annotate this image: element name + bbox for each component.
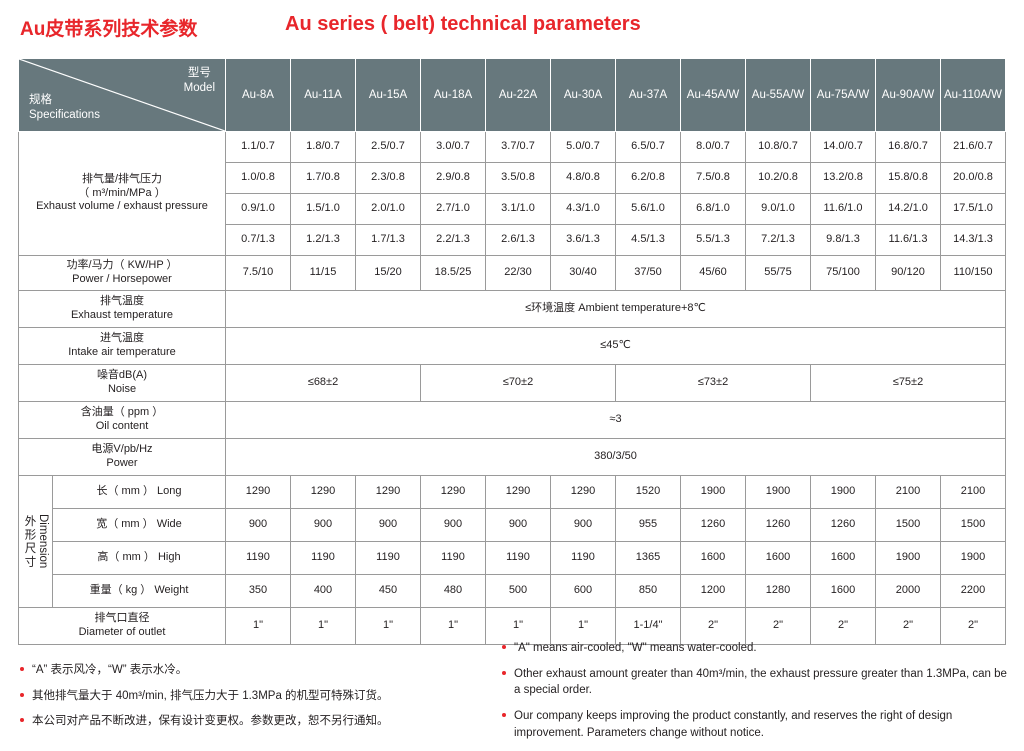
cell-dim-high-6: 1365 bbox=[616, 542, 681, 575]
row-label-oil-content: 含油量（ ppm ） Oil content bbox=[19, 402, 226, 439]
table-row-dimension-high: 高（ mm ） High 1190 1190 1190 1190 1190 11… bbox=[19, 542, 1006, 575]
cell-exhaust-0-0: 1.1/0.7 bbox=[226, 132, 291, 163]
cell-dim-weight-5: 600 bbox=[551, 575, 616, 608]
bullet-icon bbox=[20, 718, 24, 722]
cell-power-hp-9: 75/100 bbox=[811, 256, 876, 291]
cell-dim-high-0: 1190 bbox=[226, 542, 291, 575]
cell-dim-weight-0: 350 bbox=[226, 575, 291, 608]
cell-power-hp-10: 90/120 bbox=[876, 256, 941, 291]
cell-exhaust-3-2: 1.7/1.3 bbox=[356, 225, 421, 256]
row-label-intake-temp-en: Intake air temperature bbox=[19, 346, 225, 360]
header-model-3: Au-18A bbox=[421, 59, 486, 132]
cell-dim-wide-1: 900 bbox=[291, 509, 356, 542]
row-label-noise: 噪音dB(A) Noise bbox=[19, 365, 226, 402]
cell-exhaust-1-4: 3.5/0.8 bbox=[486, 163, 551, 194]
cell-exhaust-temp-value: ≤环境温度 Ambient temperature+8℃ bbox=[226, 291, 1006, 328]
cell-exhaust-2-3: 2.7/1.0 bbox=[421, 194, 486, 225]
cell-outlet-9: 2" bbox=[811, 608, 876, 645]
row-label-exhaust-unit: （ m³/min/MPa ） bbox=[19, 187, 225, 201]
header-model-5: Au-30A bbox=[551, 59, 616, 132]
cell-dim-high-8: 1600 bbox=[746, 542, 811, 575]
cell-dim-weight-6: 850 bbox=[616, 575, 681, 608]
cell-exhaust-3-1: 1.2/1.3 bbox=[291, 225, 356, 256]
cell-dim-long-9: 1900 bbox=[811, 476, 876, 509]
cell-exhaust-3-6: 4.5/1.3 bbox=[616, 225, 681, 256]
row-label-noise-cn: 噪音dB(A) bbox=[19, 369, 225, 383]
cell-dim-high-7: 1600 bbox=[681, 542, 746, 575]
cell-dim-long-11: 2100 bbox=[941, 476, 1006, 509]
table-row-intake-temp: 进气温度 Intake air temperature ≤45℃ bbox=[19, 328, 1006, 365]
cell-dim-wide-2: 900 bbox=[356, 509, 421, 542]
row-label-exhaust: 排气量/排气压力 （ m³/min/MPa ） Exhaust volume /… bbox=[19, 132, 226, 256]
row-label-outlet-en: Diameter of outlet bbox=[19, 626, 225, 640]
cell-dim-wide-5: 900 bbox=[551, 509, 616, 542]
row-label-oil-content-en: Oil content bbox=[19, 420, 225, 434]
table-header-row: 型号 Model 规格 Specifications Au-8A Au-11A … bbox=[19, 59, 1006, 132]
header-model-7: Au-45A/W bbox=[681, 59, 746, 132]
cell-outlet-1: 1" bbox=[291, 608, 356, 645]
cell-exhaust-2-8: 9.0/1.0 bbox=[746, 194, 811, 225]
row-label-dim-weight-en: Weight bbox=[154, 584, 188, 596]
footnote-en-0-text: "A" means air-cooled, "W" means water-co… bbox=[514, 642, 757, 654]
footnote-cn-2: 本公司对产品不断改进，保有设计变更权。参数更改，恕不另行通知。 bbox=[18, 713, 488, 730]
header-model-en: Model bbox=[184, 82, 215, 94]
cell-exhaust-3-11: 14.3/1.3 bbox=[941, 225, 1006, 256]
header-spec-label: 规格 Specifications bbox=[29, 93, 100, 123]
cell-exhaust-3-3: 2.2/1.3 bbox=[421, 225, 486, 256]
cell-exhaust-3-8: 7.2/1.3 bbox=[746, 225, 811, 256]
cell-exhaust-2-9: 11.6/1.0 bbox=[811, 194, 876, 225]
table-row-exhaust-0: 排气量/排气压力 （ m³/min/MPa ） Exhaust volume /… bbox=[19, 132, 1006, 163]
cell-dim-wide-6: 955 bbox=[616, 509, 681, 542]
cell-power-hp-0: 7.5/10 bbox=[226, 256, 291, 291]
cell-exhaust-2-0: 0.9/1.0 bbox=[226, 194, 291, 225]
header-model-9: Au-75A/W bbox=[811, 59, 876, 132]
cell-exhaust-1-6: 6.2/0.8 bbox=[616, 163, 681, 194]
cell-dim-high-9: 1600 bbox=[811, 542, 876, 575]
cell-exhaust-1-2: 2.3/0.8 bbox=[356, 163, 421, 194]
row-label-dim-wide: 宽（ mm ） Wide bbox=[53, 509, 226, 542]
table-row-noise: 噪音dB(A) Noise ≤68±2 ≤70±2 ≤73±2 ≤75±2 bbox=[19, 365, 1006, 402]
cell-dim-weight-10: 2000 bbox=[876, 575, 941, 608]
header-model-0: Au-8A bbox=[226, 59, 291, 132]
cell-noise-group-3: ≤75±2 bbox=[811, 365, 1006, 402]
cell-noise-group-2: ≤73±2 bbox=[616, 365, 811, 402]
cell-outlet-7: 2" bbox=[681, 608, 746, 645]
row-label-exhaust-temp-cn: 排气温度 bbox=[19, 295, 225, 309]
row-label-power-supply-en: Power bbox=[19, 457, 225, 471]
row-label-power-supply: 电源V/pb/Hz Power bbox=[19, 439, 226, 476]
cell-exhaust-3-4: 2.6/1.3 bbox=[486, 225, 551, 256]
cell-exhaust-3-10: 11.6/1.3 bbox=[876, 225, 941, 256]
cell-dim-long-7: 1900 bbox=[681, 476, 746, 509]
cell-dim-high-3: 1190 bbox=[421, 542, 486, 575]
row-label-dim-long-en: Long bbox=[157, 485, 181, 497]
header-model-8: Au-55A/W bbox=[746, 59, 811, 132]
cell-dim-wide-4: 900 bbox=[486, 509, 551, 542]
cell-power-hp-1: 11/15 bbox=[291, 256, 356, 291]
cell-dim-high-11: 1900 bbox=[941, 542, 1006, 575]
cell-dim-weight-1: 400 bbox=[291, 575, 356, 608]
cell-outlet-5: 1" bbox=[551, 608, 616, 645]
footnote-en-2-text: Our company keeps improving the product … bbox=[514, 710, 952, 739]
cell-exhaust-0-8: 10.8/0.7 bbox=[746, 132, 811, 163]
row-label-dim-long-cn: 长（ mm ） bbox=[97, 485, 154, 497]
cell-exhaust-2-11: 17.5/1.0 bbox=[941, 194, 1006, 225]
cell-outlet-10: 2" bbox=[876, 608, 941, 645]
header-model-11: Au-110A/W bbox=[941, 59, 1006, 132]
header-spec-cn: 规格 bbox=[29, 94, 52, 106]
cell-power-hp-8: 55/75 bbox=[746, 256, 811, 291]
row-label-dim-weight: 重量（ kg ） Weight bbox=[53, 575, 226, 608]
cell-dim-weight-4: 500 bbox=[486, 575, 551, 608]
footnote-en-1-text: Other exhaust amount greater than 40m³/m… bbox=[514, 668, 1007, 697]
row-label-dim-wide-cn: 宽（ mm ） bbox=[96, 518, 153, 530]
cell-power-hp-11: 110/150 bbox=[941, 256, 1006, 291]
cell-dim-high-1: 1190 bbox=[291, 542, 356, 575]
footnote-en-1: Other exhaust amount greater than 40m³/m… bbox=[500, 666, 1010, 699]
footnote-en-2: Our company keeps improving the product … bbox=[500, 708, 1010, 741]
cell-dim-wide-8: 1260 bbox=[746, 509, 811, 542]
cell-exhaust-2-6: 5.6/1.0 bbox=[616, 194, 681, 225]
cell-power-hp-3: 18.5/25 bbox=[421, 256, 486, 291]
header-corner-cell: 型号 Model 规格 Specifications bbox=[19, 59, 226, 132]
row-label-exhaust-temp-en: Exhaust temperature bbox=[19, 309, 225, 323]
bullet-icon bbox=[20, 667, 24, 671]
header-model-cn: 型号 bbox=[188, 67, 211, 79]
table-row-dimension-wide: 宽（ mm ） Wide 900 900 900 900 900 900 955… bbox=[19, 509, 1006, 542]
cell-power-hp-4: 22/30 bbox=[486, 256, 551, 291]
cell-dim-weight-2: 450 bbox=[356, 575, 421, 608]
footnote-cn-1-text: 其他排气量大于 40m³/min, 排气压力大于 1.3MPa 的机型可特殊订货… bbox=[32, 690, 389, 702]
cell-outlet-2: 1" bbox=[356, 608, 421, 645]
cell-exhaust-1-3: 2.9/0.8 bbox=[421, 163, 486, 194]
cell-power-supply-value: 380/3/50 bbox=[226, 439, 1006, 476]
bullet-icon bbox=[502, 713, 506, 717]
header-model-4: Au-22A bbox=[486, 59, 551, 132]
row-label-dimension-cn: 外形尺寸 bbox=[23, 515, 35, 569]
row-label-dimension-group: 外形尺寸 Dimension bbox=[19, 476, 53, 608]
cell-exhaust-0-6: 6.5/0.7 bbox=[616, 132, 681, 163]
cell-dim-high-2: 1190 bbox=[356, 542, 421, 575]
page-title-bar: Au皮带系列技术参数 Au series ( belt) technical p… bbox=[0, 0, 1024, 52]
cell-dim-weight-8: 1280 bbox=[746, 575, 811, 608]
cell-dim-weight-7: 1200 bbox=[681, 575, 746, 608]
cell-outlet-11: 2" bbox=[941, 608, 1006, 645]
row-label-dim-wide-en: Wide bbox=[157, 518, 182, 530]
cell-outlet-4: 1" bbox=[486, 608, 551, 645]
page-title-en: Au series ( belt) technical parameters bbox=[285, 13, 641, 36]
bullet-icon bbox=[502, 645, 506, 649]
table-row-dimension-weight: 重量（ kg ） Weight 350 400 450 480 500 600 … bbox=[19, 575, 1006, 608]
cell-exhaust-2-5: 4.3/1.0 bbox=[551, 194, 616, 225]
cell-exhaust-3-7: 5.5/1.3 bbox=[681, 225, 746, 256]
row-label-dim-high-en: High bbox=[158, 551, 181, 563]
table-row-power-supply: 电源V/pb/Hz Power 380/3/50 bbox=[19, 439, 1006, 476]
cell-exhaust-0-10: 16.8/0.7 bbox=[876, 132, 941, 163]
cell-exhaust-3-0: 0.7/1.3 bbox=[226, 225, 291, 256]
cell-exhaust-0-7: 8.0/0.7 bbox=[681, 132, 746, 163]
cell-power-hp-7: 45/60 bbox=[681, 256, 746, 291]
cell-exhaust-1-8: 10.2/0.8 bbox=[746, 163, 811, 194]
cell-dim-long-6: 1520 bbox=[616, 476, 681, 509]
cell-exhaust-1-7: 7.5/0.8 bbox=[681, 163, 746, 194]
cell-dim-wide-0: 900 bbox=[226, 509, 291, 542]
cell-exhaust-0-2: 2.5/0.7 bbox=[356, 132, 421, 163]
cell-power-hp-2: 15/20 bbox=[356, 256, 421, 291]
cell-dim-long-1: 1290 bbox=[291, 476, 356, 509]
cell-dim-weight-9: 1600 bbox=[811, 575, 876, 608]
row-label-exhaust-cn: 排气量/排气压力 bbox=[19, 173, 225, 187]
row-label-exhaust-en: Exhaust volume / exhaust pressure bbox=[19, 200, 225, 214]
footnote-cn-0-text: “A” 表示风冷，“W” 表示水冷。 bbox=[32, 664, 187, 676]
cell-exhaust-2-7: 6.8/1.0 bbox=[681, 194, 746, 225]
cell-outlet-0: 1" bbox=[226, 608, 291, 645]
cell-exhaust-0-1: 1.8/0.7 bbox=[291, 132, 356, 163]
cell-dim-wide-7: 1260 bbox=[681, 509, 746, 542]
cell-exhaust-1-11: 20.0/0.8 bbox=[941, 163, 1006, 194]
row-label-power-hp: 功率/马力（ KW/HP ） Power / Horsepower bbox=[19, 256, 226, 291]
header-model-6: Au-37A bbox=[616, 59, 681, 132]
cell-dim-weight-3: 480 bbox=[421, 575, 486, 608]
cell-dim-high-4: 1190 bbox=[486, 542, 551, 575]
cell-dim-long-5: 1290 bbox=[551, 476, 616, 509]
cell-exhaust-1-9: 13.2/0.8 bbox=[811, 163, 876, 194]
row-label-oil-content-cn: 含油量（ ppm ） bbox=[19, 406, 225, 420]
cell-exhaust-0-4: 3.7/0.7 bbox=[486, 132, 551, 163]
cell-exhaust-2-4: 3.1/1.0 bbox=[486, 194, 551, 225]
bullet-icon bbox=[502, 671, 506, 675]
row-label-dim-long: 长（ mm ） Long bbox=[53, 476, 226, 509]
table-row-oil-content: 含油量（ ppm ） Oil content ≈3 bbox=[19, 402, 1006, 439]
cell-outlet-3: 1" bbox=[421, 608, 486, 645]
row-label-noise-en: Noise bbox=[19, 383, 225, 397]
table-row-power-hp: 功率/马力（ KW/HP ） Power / Horsepower 7.5/10… bbox=[19, 256, 1006, 291]
page-title-cn: Au皮带系列技术参数 bbox=[20, 14, 197, 41]
spec-table-wrapper: 型号 Model 规格 Specifications Au-8A Au-11A … bbox=[18, 58, 1006, 645]
row-label-dim-weight-cn: 重量（ kg ） bbox=[90, 584, 152, 596]
cell-intake-temp-value: ≤45℃ bbox=[226, 328, 1006, 365]
cell-outlet-8: 2" bbox=[746, 608, 811, 645]
cell-outlet-6: 1-1/4" bbox=[616, 608, 681, 645]
cell-exhaust-1-10: 15.8/0.8 bbox=[876, 163, 941, 194]
row-label-exhaust-temp: 排气温度 Exhaust temperature bbox=[19, 291, 226, 328]
cell-dim-long-2: 1290 bbox=[356, 476, 421, 509]
footnote-cn-0: “A” 表示风冷，“W” 表示水冷。 bbox=[18, 662, 488, 679]
table-row-outlet: 排气口直径 Diameter of outlet 1" 1" 1" 1" 1" … bbox=[19, 608, 1006, 645]
table-row-exhaust-temp: 排气温度 Exhaust temperature ≤环境温度 Ambient t… bbox=[19, 291, 1006, 328]
footnote-cn-2-text: 本公司对产品不断改进，保有设计变更权。参数更改，恕不另行通知。 bbox=[32, 715, 389, 727]
cell-exhaust-3-5: 3.6/1.3 bbox=[551, 225, 616, 256]
cell-dim-wide-10: 1500 bbox=[876, 509, 941, 542]
cell-exhaust-2-2: 2.0/1.0 bbox=[356, 194, 421, 225]
row-label-intake-temp-cn: 进气温度 bbox=[19, 332, 225, 346]
row-label-dim-high-cn: 高（ mm ） bbox=[97, 551, 154, 563]
cell-exhaust-0-9: 14.0/0.7 bbox=[811, 132, 876, 163]
cell-exhaust-1-5: 4.8/0.8 bbox=[551, 163, 616, 194]
header-model-label: 型号 Model bbox=[184, 66, 215, 96]
header-spec-en: Specifications bbox=[29, 109, 100, 121]
row-label-intake-temp: 进气温度 Intake air temperature bbox=[19, 328, 226, 365]
footnotes-cn: “A” 表示风冷，“W” 表示水冷。 其他排气量大于 40m³/min, 排气压… bbox=[18, 662, 488, 739]
cell-dim-wide-3: 900 bbox=[421, 509, 486, 542]
row-label-outlet: 排气口直径 Diameter of outlet bbox=[19, 608, 226, 645]
cell-dim-long-8: 1900 bbox=[746, 476, 811, 509]
cell-exhaust-2-10: 14.2/1.0 bbox=[876, 194, 941, 225]
cell-noise-group-1: ≤70±2 bbox=[421, 365, 616, 402]
cell-exhaust-0-11: 21.6/0.7 bbox=[941, 132, 1006, 163]
header-model-2: Au-15A bbox=[356, 59, 421, 132]
cell-exhaust-1-1: 1.7/0.8 bbox=[291, 163, 356, 194]
row-label-power-hp-cn: 功率/马力（ KW/HP ） bbox=[19, 259, 225, 273]
cell-dim-wide-9: 1260 bbox=[811, 509, 876, 542]
header-model-1: Au-11A bbox=[291, 59, 356, 132]
spec-table: 型号 Model 规格 Specifications Au-8A Au-11A … bbox=[18, 58, 1006, 645]
cell-dim-long-10: 2100 bbox=[876, 476, 941, 509]
row-label-outlet-cn: 排气口直径 bbox=[19, 612, 225, 626]
table-row-dimension-long: 外形尺寸 Dimension 长（ mm ） Long 1290 1290 12… bbox=[19, 476, 1006, 509]
row-label-dimension-en: Dimension bbox=[37, 514, 49, 568]
footnotes-en: "A" means air-cooled, "W" means water-co… bbox=[500, 640, 1010, 750]
cell-dim-wide-11: 1500 bbox=[941, 509, 1006, 542]
cell-dim-long-3: 1290 bbox=[421, 476, 486, 509]
cell-dim-long-4: 1290 bbox=[486, 476, 551, 509]
cell-dim-high-5: 1190 bbox=[551, 542, 616, 575]
cell-exhaust-0-3: 3.0/0.7 bbox=[421, 132, 486, 163]
cell-exhaust-1-0: 1.0/0.8 bbox=[226, 163, 291, 194]
cell-power-hp-6: 37/50 bbox=[616, 256, 681, 291]
row-label-power-supply-cn: 电源V/pb/Hz bbox=[19, 443, 225, 457]
cell-oil-content-value: ≈3 bbox=[226, 402, 1006, 439]
row-label-dim-high: 高（ mm ） High bbox=[53, 542, 226, 575]
cell-dim-high-10: 1900 bbox=[876, 542, 941, 575]
row-label-power-hp-en: Power / Horsepower bbox=[19, 273, 225, 287]
cell-exhaust-3-9: 9.8/1.3 bbox=[811, 225, 876, 256]
bullet-icon bbox=[20, 693, 24, 697]
cell-noise-group-0: ≤68±2 bbox=[226, 365, 421, 402]
footnote-cn-1: 其他排气量大于 40m³/min, 排气压力大于 1.3MPa 的机型可特殊订货… bbox=[18, 688, 488, 705]
header-model-10: Au-90A/W bbox=[876, 59, 941, 132]
footnote-en-0: "A" means air-cooled, "W" means water-co… bbox=[500, 640, 1010, 657]
cell-dim-long-0: 1290 bbox=[226, 476, 291, 509]
cell-exhaust-2-1: 1.5/1.0 bbox=[291, 194, 356, 225]
cell-dim-weight-11: 2200 bbox=[941, 575, 1006, 608]
cell-power-hp-5: 30/40 bbox=[551, 256, 616, 291]
cell-exhaust-0-5: 5.0/0.7 bbox=[551, 132, 616, 163]
